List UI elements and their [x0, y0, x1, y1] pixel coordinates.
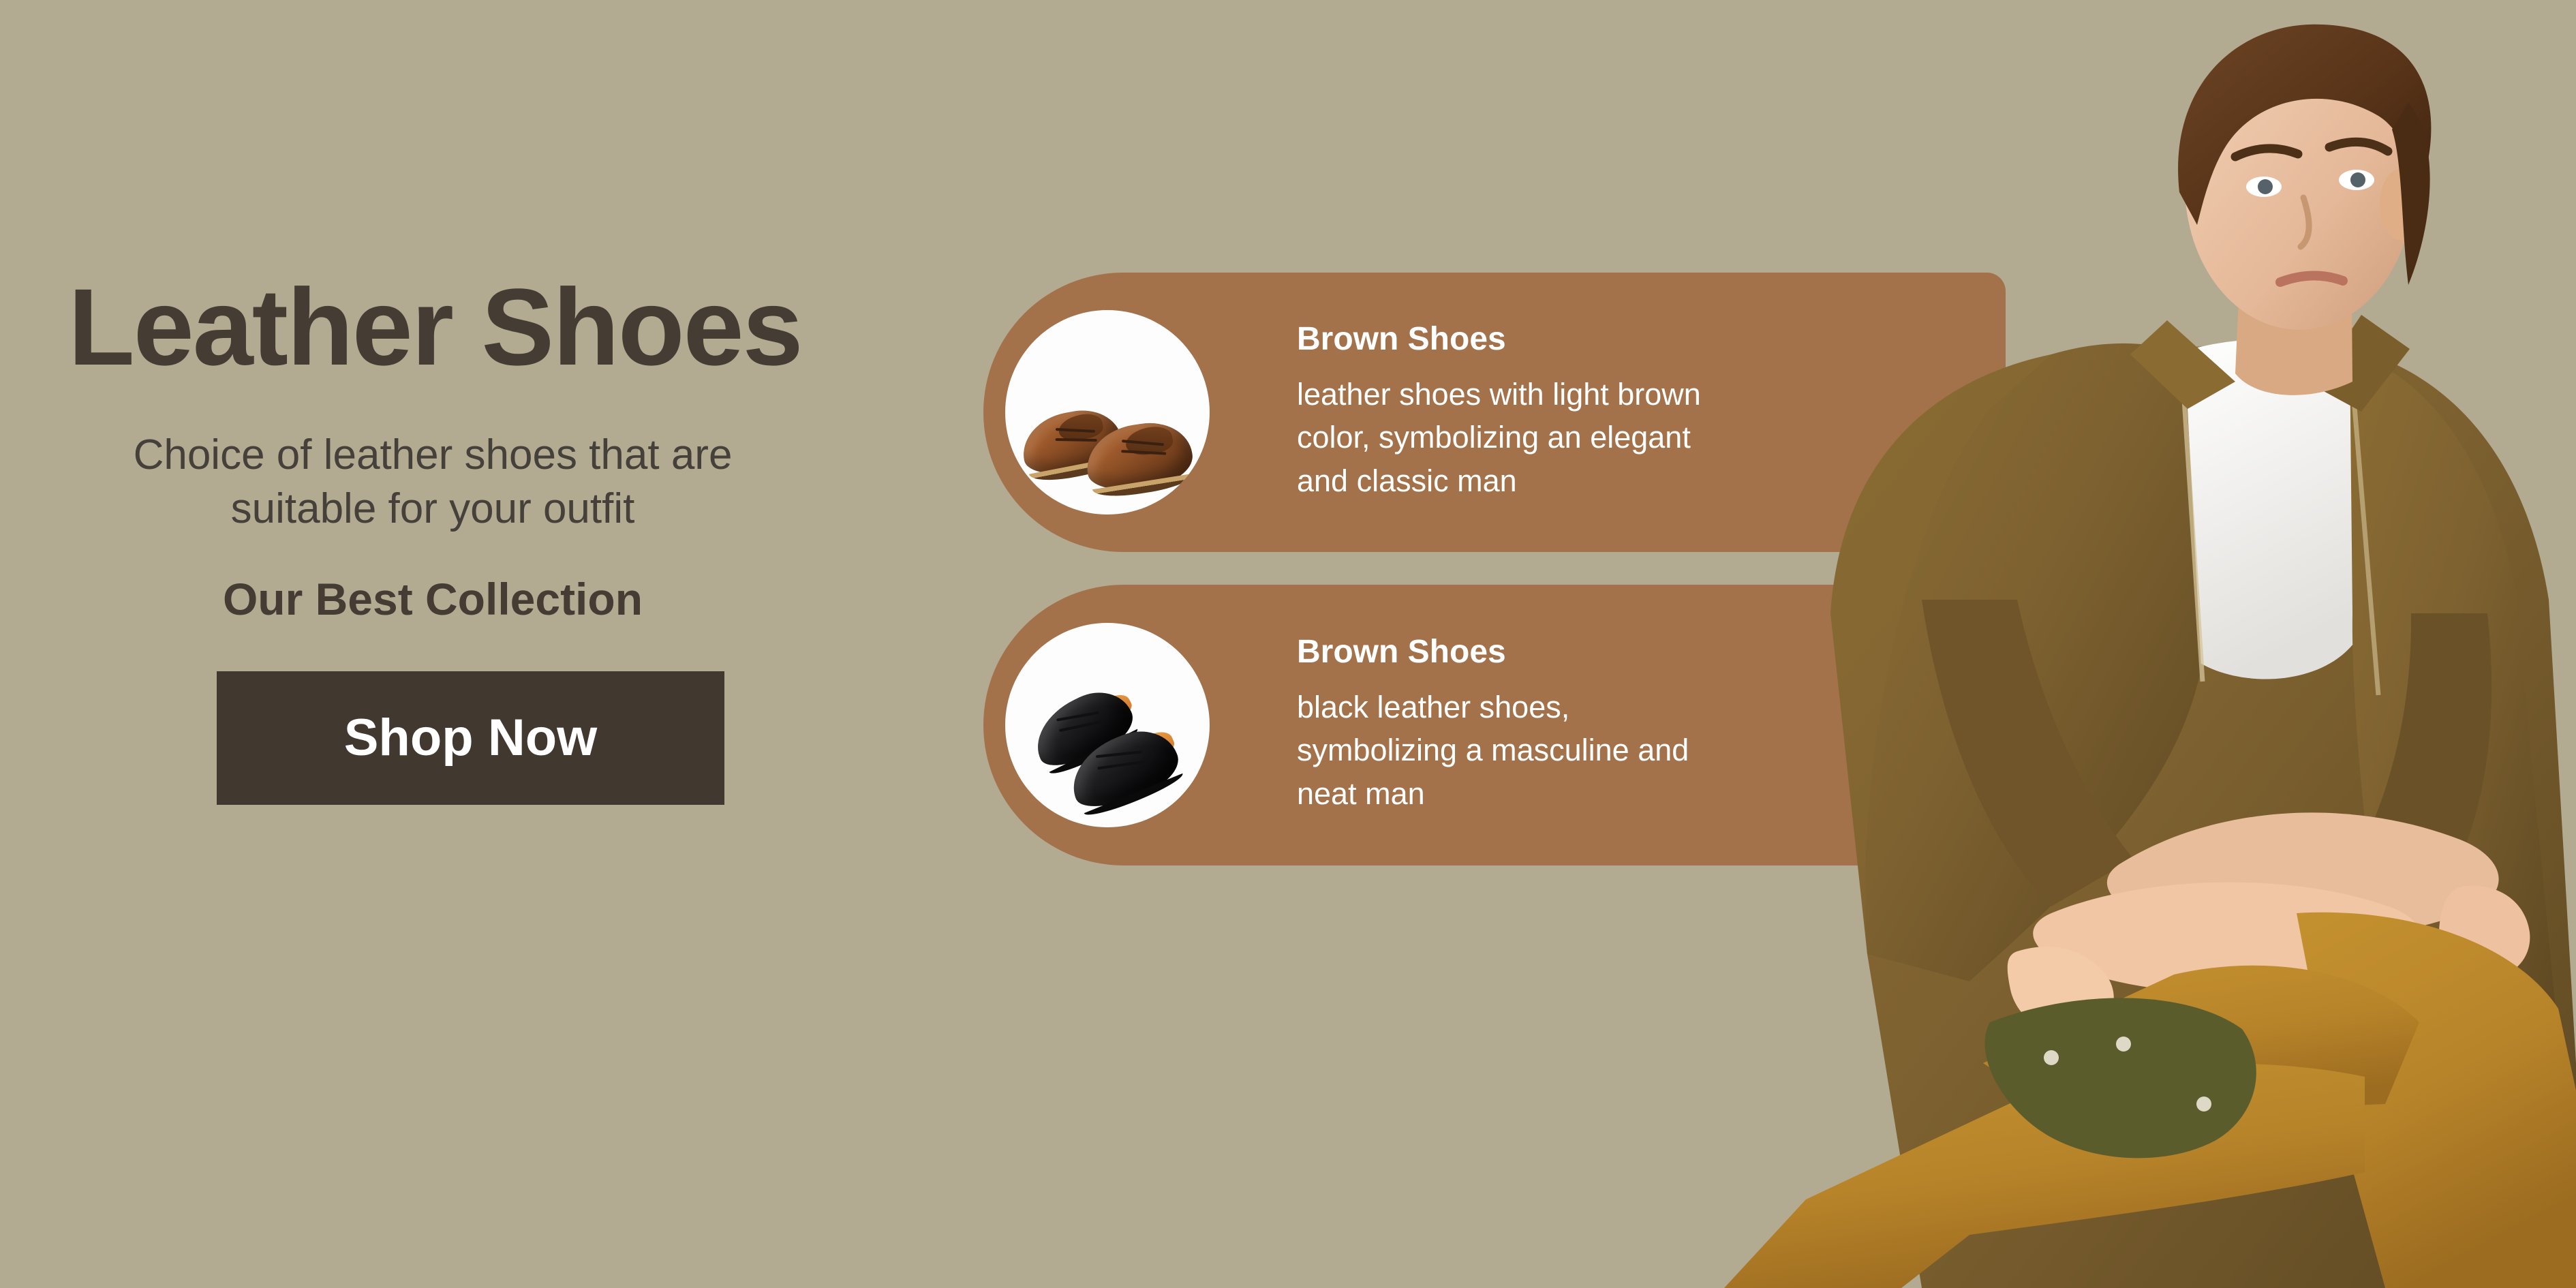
shoe-lace-icon — [1055, 428, 1095, 433]
shoe-lace-icon — [1122, 440, 1165, 446]
card-title: Brown Shoes — [1297, 322, 1701, 358]
hand-left — [2008, 947, 2114, 1035]
trousers-left-leg — [1724, 1064, 2365, 1288]
shoe-lace-icon — [1059, 720, 1103, 732]
eye-left — [2246, 177, 2282, 197]
shoe-lace-icon — [1097, 760, 1146, 769]
hero-subtitle: Choice of leather shoes that are suitabl… — [61, 428, 804, 536]
jacket-collar-right — [2314, 315, 2410, 412]
mouth — [2280, 275, 2343, 282]
hero-text-column: Leather Shoes Choice of leather shoes th… — [68, 273, 872, 805]
card-text-block: Brown Shoes black leather shoes, symboli… — [1297, 634, 1689, 816]
jacket-collar-left — [2130, 320, 2235, 409]
neck — [2235, 225, 2352, 395]
brown-shoes-thumbnail — [1005, 310, 1210, 515]
hair-side — [2392, 102, 2430, 285]
card-description: black leather shoes, symbolizing a mascu… — [1297, 686, 1689, 816]
forearm-upper — [2107, 812, 2499, 940]
shoe-lace-icon — [1121, 450, 1166, 455]
eye-right — [2339, 170, 2374, 190]
shoe-lace-icon — [1055, 438, 1097, 442]
jacket-zipper — [2182, 368, 2203, 681]
shoe-lace-icon — [1095, 750, 1141, 758]
snap-button-icon — [2196, 1097, 2211, 1111]
wooden-stool-icon — [2017, 1041, 2317, 1288]
snap-button-icon — [2116, 1037, 2131, 1052]
shop-now-button[interactable]: Shop Now — [217, 671, 724, 805]
face — [2185, 41, 2414, 330]
shoe-lace-icon — [1056, 711, 1099, 722]
iris-right — [2350, 172, 2365, 187]
white-tshirt — [2174, 339, 2368, 679]
jacket-zipper — [2351, 365, 2378, 695]
snap-button-icon — [2044, 1050, 2059, 1065]
nose — [2301, 198, 2309, 247]
hero-kicker: Our Best Collection — [61, 573, 804, 625]
trousers-right-thigh — [2297, 913, 2576, 1288]
iris-left — [2258, 179, 2273, 194]
ear — [2380, 169, 2421, 240]
forearm-lower — [2033, 883, 2423, 994]
eyebrow-right — [2329, 142, 2388, 151]
draped-jacket — [1985, 998, 2256, 1158]
hair — [2178, 25, 2431, 225]
product-card-black[interactable]: Brown Shoes black leather shoes, symboli… — [983, 585, 2006, 865]
product-card-brown[interactable]: Brown Shoes leather shoes with light bro… — [983, 273, 2006, 552]
hand-right — [2439, 886, 2530, 977]
black-shoes-thumbnail — [1005, 623, 1210, 827]
jacket-right-panel — [2350, 353, 2556, 1049]
page-title: Leather Shoes — [68, 273, 872, 382]
card-text-block: Brown Shoes leather shoes with light bro… — [1297, 322, 1701, 503]
jacket-sleeve-right — [2351, 613, 2491, 900]
trousers-lap — [1983, 966, 2419, 1118]
card-title: Brown Shoes — [1297, 634, 1689, 671]
eyebrow-left — [2235, 149, 2298, 157]
card-description: leather shoes with light brown color, sy… — [1297, 373, 1701, 504]
